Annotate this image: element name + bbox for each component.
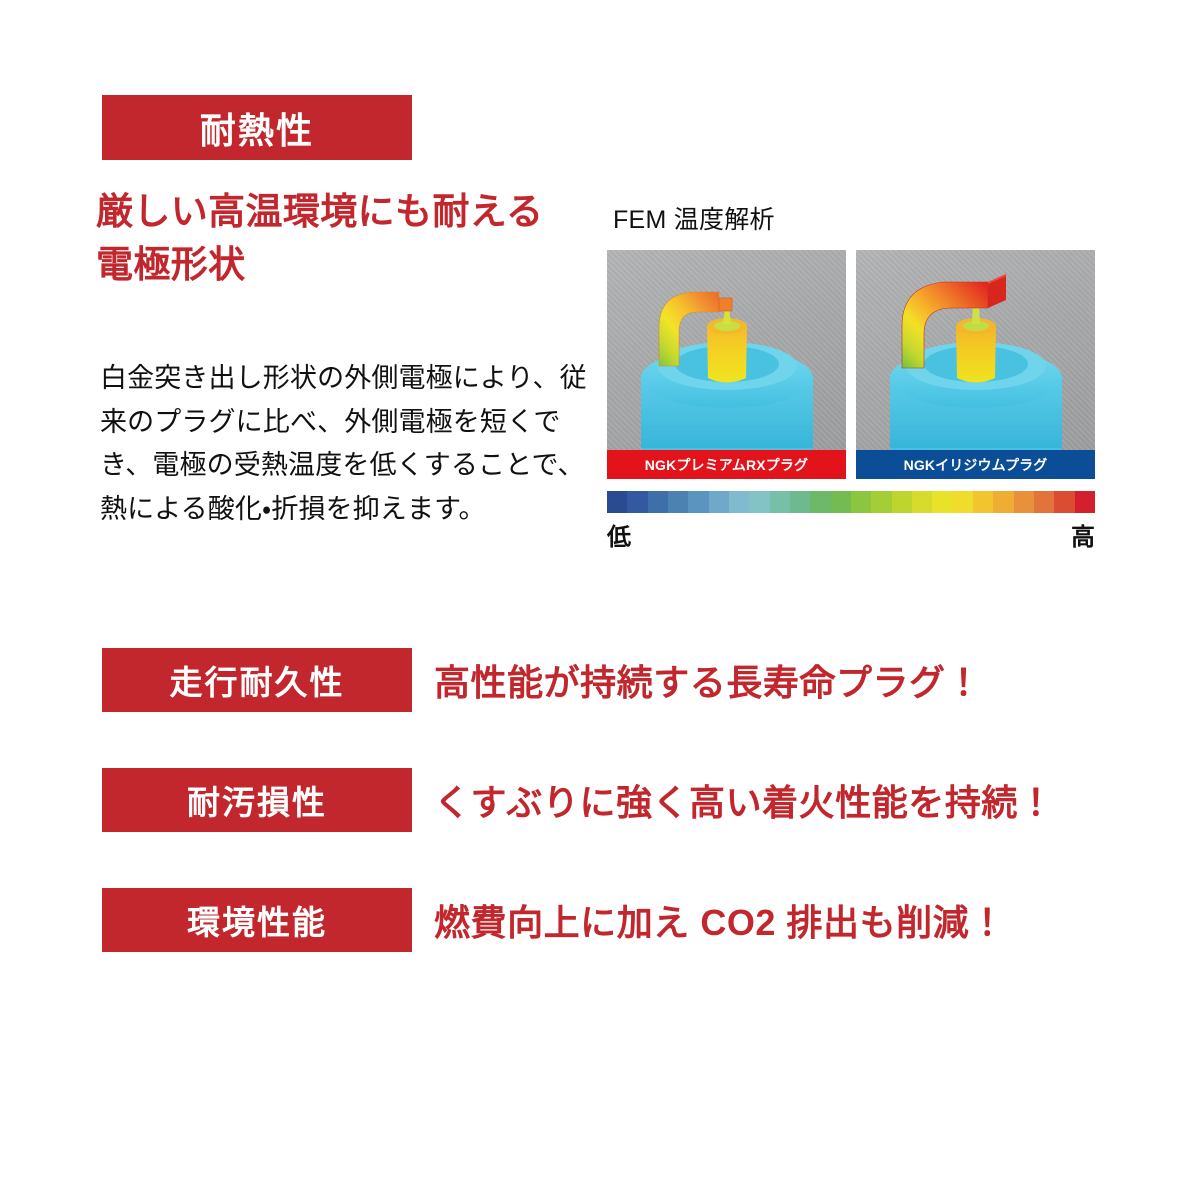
feature-badge: 耐汚損性 [102, 768, 412, 832]
color-scale-segment [892, 491, 912, 513]
feature-badge: 走行耐久性 [102, 648, 412, 712]
fem-caption-iridium: NGKイリジウムプラグ [856, 450, 1095, 479]
color-scale-segment [831, 491, 851, 513]
feature-row: 走行耐久性高性能が持続する長寿命プラグ！ [102, 648, 1102, 712]
heat-resistance-section: 耐熱性 厳しい高温環境にも耐える 電極形状 白金突き出し形状の外側電極により、従… [0, 0, 1200, 600]
fem-caption-premium-rx: NGKプレミアムRXプラグ [607, 450, 846, 479]
color-scale-segment [688, 491, 708, 513]
headline-line-1: 厳しい高温環境にも耐える [96, 186, 596, 239]
color-scale-segment [607, 491, 627, 513]
color-scale-segment [953, 491, 973, 513]
fem-analysis-title: FEM 温度解析 [613, 200, 1095, 236]
fem-panel-iridium: NGKイリジウムプラグ [856, 250, 1095, 479]
color-scale-segment [851, 491, 871, 513]
feature-row: 環境性能燃費向上に加え CO2 排出も削減！ [102, 888, 1102, 952]
color-scale-segment [1075, 491, 1095, 513]
color-scale-segment [729, 491, 749, 513]
headline-line-2: 電極形状 [96, 239, 596, 292]
color-scale-segment [648, 491, 668, 513]
body-paragraph: 白金突き出し形状の外側電極により、従来のプラグに比べ、外側電極を短くでき、電極の… [100, 357, 590, 532]
fem-thermal-image-premium-rx [607, 250, 846, 450]
scale-label-high: 高 [1071, 517, 1095, 552]
scale-label-low: 低 [607, 517, 631, 552]
feature-row: 耐汚損性くすぶりに強く高い着火性能を持続！ [102, 768, 1102, 832]
color-scale-segment [749, 491, 769, 513]
section-badge-heat-resistance: 耐熱性 [102, 95, 412, 160]
color-scale-segment [627, 491, 647, 513]
page-title: 厳しい高温環境にも耐える 電極形状 [96, 186, 596, 291]
color-scale-segment [1054, 491, 1074, 513]
color-scale-segment [709, 491, 729, 513]
color-scale-segment [912, 491, 932, 513]
color-scale-segment [810, 491, 830, 513]
spark-plug-thermal-render-rx [607, 250, 846, 450]
spark-plug-thermal-render-iridium [856, 250, 1095, 450]
feature-text: 高性能が持続する長寿命プラグ！ [434, 654, 982, 706]
color-scale-segment [770, 491, 790, 513]
color-scale-bar [607, 491, 1095, 513]
feature-text: くすぶりに強く高い着火性能を持続！ [434, 774, 1054, 826]
feature-text: 燃費向上に加え CO2 排出も削減！ [434, 894, 1006, 946]
color-scale-segment [932, 491, 952, 513]
feature-badge: 環境性能 [102, 888, 412, 952]
color-scale-segment [871, 491, 891, 513]
color-scale-segment [1034, 491, 1054, 513]
color-scale-labels: 低 高 [607, 517, 1095, 552]
color-scale-segment [1014, 491, 1034, 513]
feature-list: 走行耐久性高性能が持続する長寿命プラグ！耐汚損性くすぶりに強く高い着火性能を持続… [102, 648, 1102, 1008]
color-scale-segment [668, 491, 688, 513]
fem-panel-group: NGKプレミアムRXプラグ [607, 250, 1095, 479]
color-scale-segment [790, 491, 810, 513]
temperature-color-scale: 低 高 [607, 491, 1095, 552]
fem-thermal-image-iridium [856, 250, 1095, 450]
fem-panel-premium-rx: NGKプレミアムRXプラグ [607, 250, 846, 479]
color-scale-segment [973, 491, 993, 513]
color-scale-segment [993, 491, 1013, 513]
fem-analysis-block: FEM 温度解析 [607, 200, 1095, 552]
